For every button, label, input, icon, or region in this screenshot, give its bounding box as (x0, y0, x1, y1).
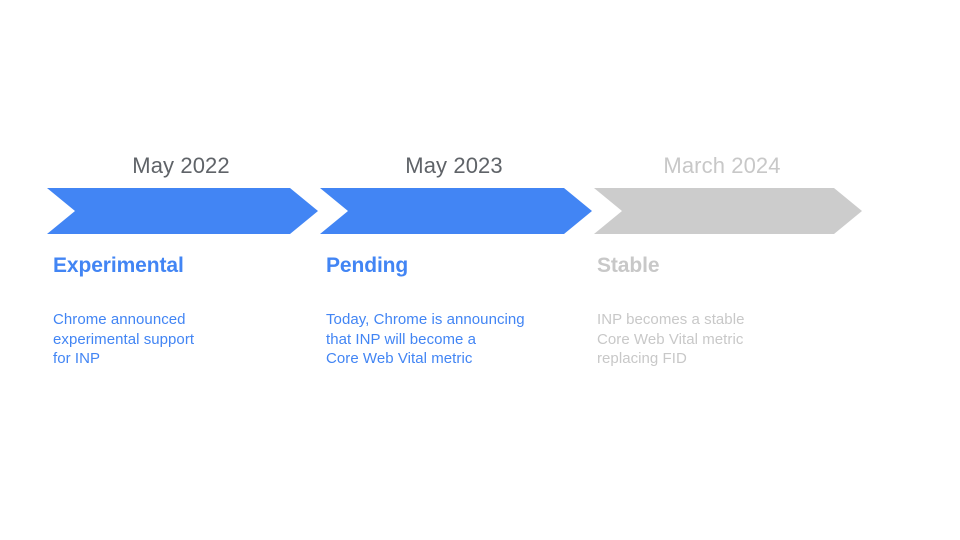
description-line: Core Web Vital metric (326, 349, 525, 369)
chevron-arrow-pending[interactable] (320, 188, 592, 234)
description-line: for INP (53, 349, 194, 369)
description-line: Today, Chrome is announcing (326, 310, 525, 330)
stage-description-stable: INP becomes a stable Core Web Vital metr… (597, 310, 744, 369)
stage-heading-experimental: Experimental (53, 253, 184, 279)
description-line: that INP will become a (326, 330, 525, 350)
description-line: experimental support (53, 330, 194, 350)
chevron-arrow-experimental[interactable] (47, 188, 318, 234)
stage-description-pending: Today, Chrome is announcing that INP wil… (326, 310, 525, 369)
stage-date-stable: March 2024 (602, 152, 842, 180)
timeline-canvas: May 2022 May 2023 March 2024 Experimenta… (0, 0, 960, 540)
description-line: Core Web Vital metric (597, 330, 744, 350)
chevron-arrow-band (0, 188, 960, 234)
description-line: Chrome announced (53, 310, 194, 330)
stage-heading-pending: Pending (326, 253, 408, 279)
stage-description-experimental: Chrome announced experimental support fo… (53, 310, 194, 369)
description-line: INP becomes a stable (597, 310, 744, 330)
stage-date-experimental: May 2022 (61, 152, 301, 180)
stage-heading-stable: Stable (597, 253, 659, 279)
description-line: replacing FID (597, 349, 744, 369)
chevron-arrow-stable[interactable] (594, 188, 862, 234)
stage-date-pending: May 2023 (334, 152, 574, 180)
